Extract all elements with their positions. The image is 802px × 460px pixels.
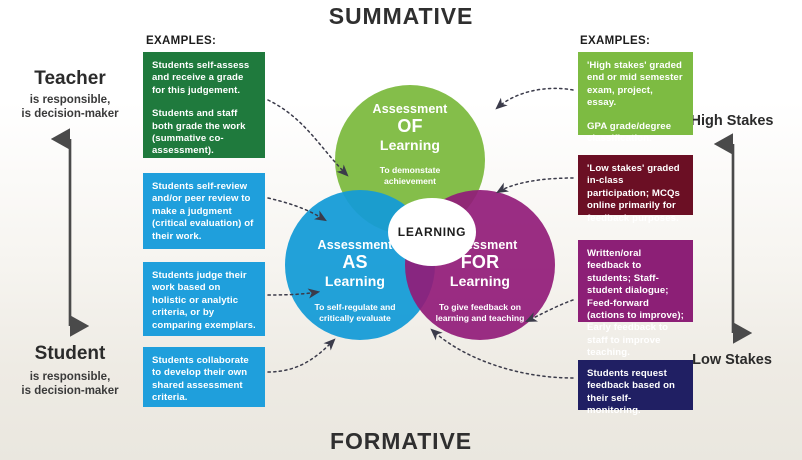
example-text: Students request feedback based on their… [587,368,684,418]
subtitle-assessment-of-learning: To demonstate achievement [330,165,490,187]
subtitle-line2: achievement [330,176,490,187]
subtitle-line1: To give feedback on [400,302,560,313]
venn-diagram: Assessment OF Learning To demonstate ach… [255,70,565,360]
diagram-canvas: SUMMATIVE FORMATIVE Teacher is responsib… [0,0,802,460]
example-box-right-2[interactable]: 'Low stakes' graded in-class participati… [578,155,693,215]
example-text: Written/oral feedback to students; Staff… [587,248,684,360]
example-box-left-3[interactable]: Students judge their work based on holis… [143,262,265,336]
teacher-sublabel-line1: is responsible, [0,93,140,107]
subtitle-line2: learning and teaching [400,313,560,324]
example-text: 'Low stakes' graded in-class participati… [587,163,684,225]
teacher-student-axis-arrow-icon [45,128,95,338]
subtitle-line1: To demonstate [330,165,490,176]
examples-left-heading: EXAMPLES: [146,35,216,47]
example-box-left-1[interactable]: Students self-assess and receive a grade… [143,52,265,158]
stakes-axis-arrow-icon [708,133,758,348]
left-axis-group: Teacher is responsible, is decision-make… [0,0,140,460]
example-box-right-3[interactable]: Written/oral feedback to students; Staff… [578,240,693,322]
student-sublabel: is responsible, is decision-maker [0,370,140,398]
example-text: 'High stakes' graded end or mid semester… [587,60,684,110]
student-label: Student [0,343,140,365]
teacher-sublabel: is responsible, is decision-maker [0,93,140,121]
example-text: Students self-review and/or peer review … [152,181,256,243]
subtitle-assessment-for-learning: To give feedback on learning and teachin… [400,302,560,324]
example-box-left-2[interactable]: Students self-review and/or peer review … [143,173,265,249]
example-text: GPA grade/degree classification. [587,121,684,146]
examples-right-heading: EXAMPLES: [580,35,650,47]
example-text: Students collaborate to develop their ow… [152,355,256,405]
student-sublabel-line2: is decision-maker [0,384,140,398]
student-sublabel-line1: is responsible, [0,370,140,384]
learning-center-oval: LEARNING [388,198,476,266]
example-text: Students self-assess and receive a grade… [152,60,256,97]
teacher-sublabel-line2: is decision-maker [0,107,140,121]
example-box-right-1[interactable]: 'High stakes' graded end or mid semester… [578,52,693,135]
example-box-left-4[interactable]: Students collaborate to develop their ow… [143,347,265,407]
teacher-label: Teacher [0,68,140,90]
learning-center-label: LEARNING [398,225,466,239]
example-text: Students and staff both grade the work (… [152,108,256,158]
example-box-right-4[interactable]: Students request feedback based on their… [578,360,693,410]
example-text: Students judge their work based on holis… [152,270,256,332]
